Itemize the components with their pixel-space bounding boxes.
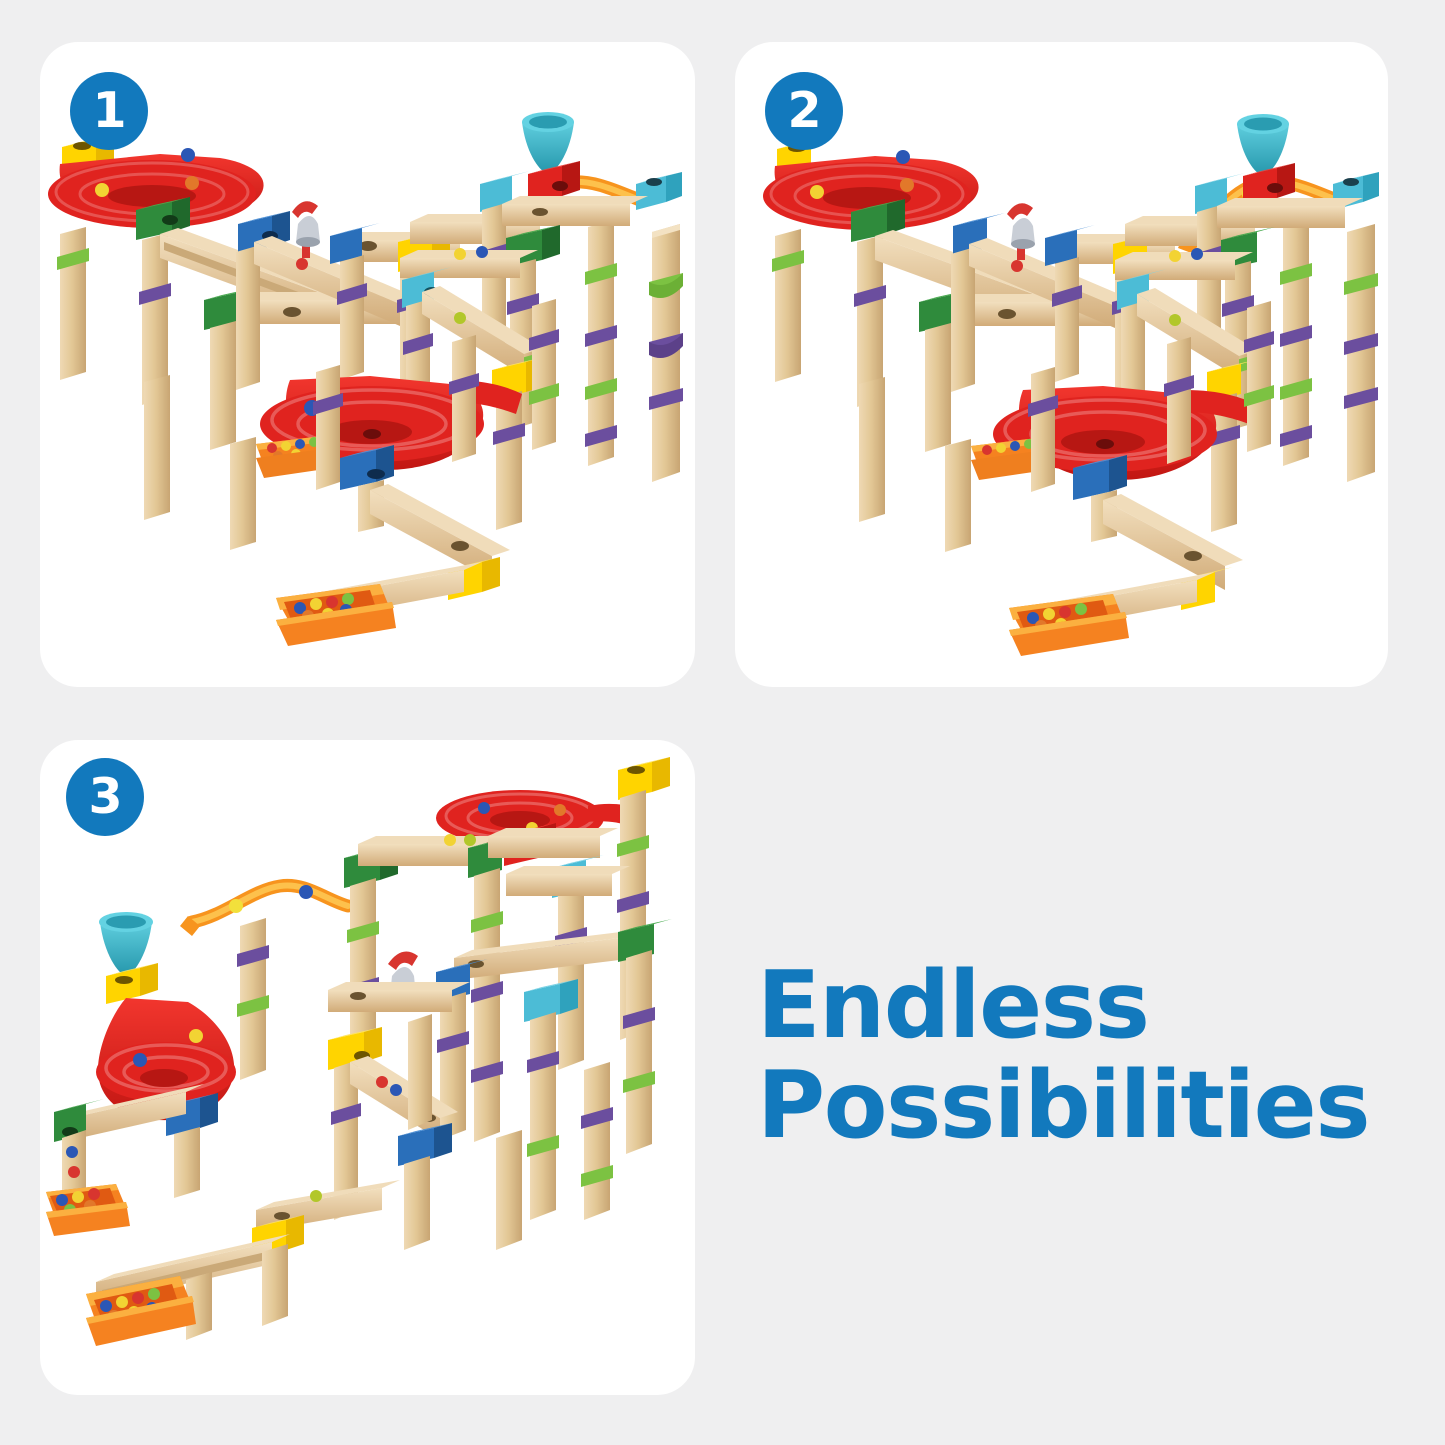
headline-line-1: Endless bbox=[757, 955, 1397, 1055]
step-badge-2: 2 bbox=[765, 72, 843, 150]
marble-tray-left-3 bbox=[46, 1184, 130, 1236]
red-spiral-funnel-left bbox=[48, 134, 264, 240]
marble-tray-bottom bbox=[276, 584, 396, 646]
marketing-image: 1 bbox=[0, 0, 1445, 1445]
cyan-cube-top bbox=[636, 172, 682, 210]
marble-run-structure bbox=[48, 112, 683, 646]
post-group-right bbox=[585, 220, 683, 482]
marble-run-illustration-2 bbox=[735, 42, 1388, 687]
step-card-1: 1 bbox=[40, 42, 695, 687]
marble-run-structure-2 bbox=[763, 114, 1379, 656]
step-badge-3: 3 bbox=[66, 758, 144, 836]
headline-line-2: Possibilities bbox=[757, 1055, 1397, 1155]
marble-run-illustration-3 bbox=[40, 740, 695, 1395]
step-badge-1: 1 bbox=[70, 72, 148, 150]
marble-run-structure-3 bbox=[46, 757, 672, 1346]
step-card-2: 2 bbox=[735, 42, 1388, 687]
marble-run-illustration-1 bbox=[40, 42, 695, 687]
step-card-3: 3 bbox=[40, 740, 695, 1395]
headline: Endless Possibilities bbox=[757, 955, 1397, 1156]
